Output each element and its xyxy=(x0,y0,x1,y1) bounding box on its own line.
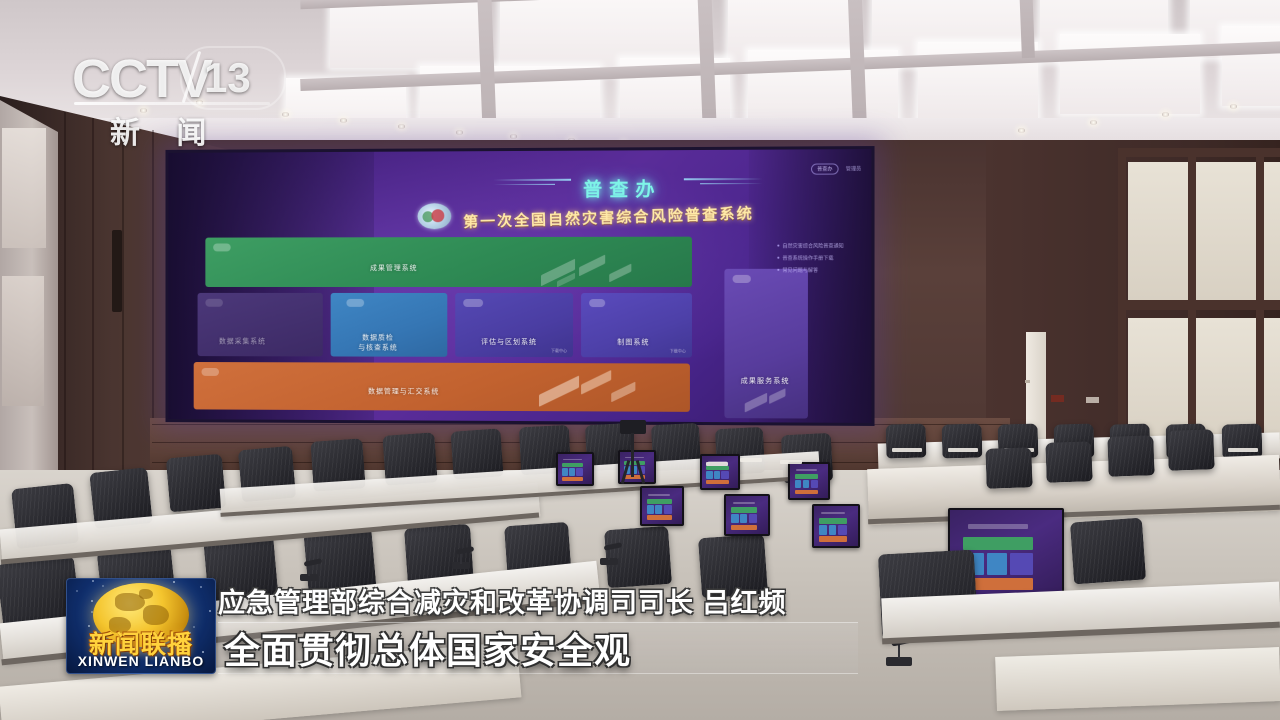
conference-chair[interactable] xyxy=(166,454,226,513)
wall-switch-plate xyxy=(1086,397,1099,403)
title-deco-left xyxy=(493,179,571,189)
downlight xyxy=(398,124,405,129)
tile-chip-icon xyxy=(213,243,231,251)
left-wall-panel-upper xyxy=(2,128,46,248)
display-topbar: 普查办 管理员 xyxy=(811,163,861,174)
screen-green-bar xyxy=(647,499,672,504)
tile-chip-icon xyxy=(346,299,364,307)
tile-mapping[interactable]: 制图系统 下载中心 xyxy=(581,293,692,357)
panel-frame xyxy=(1118,300,1280,310)
screen-blue-tile xyxy=(829,525,837,535)
monitor-screen xyxy=(558,454,592,484)
desk-monitor[interactable] xyxy=(724,494,770,536)
screen-orange-bar xyxy=(795,490,819,494)
screen-title-bar xyxy=(648,494,670,496)
headline-bar: 全面贯彻总体国家安全观 xyxy=(218,622,858,674)
desk-monitor[interactable] xyxy=(700,454,740,490)
gallery-chair[interactable] xyxy=(942,423,983,458)
video-wall-display: 普查办 管理员 普查办 第一次全国自然灾害综合风险普查系统 成果管理系统 xyxy=(168,149,871,423)
screen-blue-tile xyxy=(647,505,654,514)
screen-blue-tile xyxy=(819,525,827,535)
cctv-logo-underline xyxy=(74,102,270,105)
screen-green-bar xyxy=(731,507,757,512)
gallery-chair[interactable] xyxy=(1045,441,1092,483)
screen-title-bar xyxy=(563,459,581,461)
downlight xyxy=(1230,104,1237,109)
wood-panel-seam xyxy=(92,118,94,490)
tile-quality-check[interactable]: 数据质检 与核查系统 xyxy=(331,293,448,357)
tile-tag: 下载中心 xyxy=(670,348,686,354)
star xyxy=(173,581,175,583)
screen-blue-tile xyxy=(714,471,720,479)
screen-orange-bar xyxy=(706,480,728,484)
screen-title-bar xyxy=(796,469,817,471)
tile-results-management[interactable]: 成果管理系统 xyxy=(205,237,692,287)
tile-tag: 下载中心 xyxy=(551,348,567,354)
cctv-channel-subtitle: 新 闻 xyxy=(110,108,220,152)
speaker-title-text: 应急管理部综合减灾和改革协调司司长 吕红频 xyxy=(218,581,787,620)
desk-monitor[interactable] xyxy=(788,462,830,500)
screen-title-bar xyxy=(821,512,845,514)
tile-label: 数据采集系统 xyxy=(219,336,266,346)
wall-speaker xyxy=(112,230,122,312)
side-note[interactable]: 自然灾害综合风险普查通知 xyxy=(777,242,857,249)
census-office-emblem-icon xyxy=(418,203,452,229)
gallery-chair[interactable] xyxy=(985,447,1032,489)
screen-orange-bar xyxy=(647,515,672,520)
tile-label: 评估与区划系统 xyxy=(481,337,537,347)
ceiling-light-panel xyxy=(330,0,480,68)
tile-illustration xyxy=(531,257,652,285)
screen-blue-tile xyxy=(803,480,810,488)
led-video-wall[interactable]: 普查办 管理员 普查办 第一次全国自然灾害综合风险普查系统 成果管理系统 xyxy=(166,146,875,426)
tile-label: 成果管理系统 xyxy=(370,263,417,273)
desk-nameplate xyxy=(780,460,802,464)
downlight xyxy=(1018,128,1025,133)
downlight xyxy=(1162,112,1169,117)
screen-indigo-tile xyxy=(838,525,847,535)
monitor-screen xyxy=(726,496,768,534)
gallery-chair[interactable] xyxy=(1222,423,1263,458)
desk-nameplate xyxy=(706,462,728,466)
gallery-chair[interactable] xyxy=(886,423,927,458)
acoustic-panel xyxy=(1128,162,1188,310)
conference-chair[interactable] xyxy=(1070,518,1146,585)
tile-results-service[interactable]: 成果服务系统 xyxy=(724,269,808,419)
downlight xyxy=(510,134,517,139)
screen-title-bar xyxy=(733,502,756,504)
tile-illustration xyxy=(519,371,650,408)
monitor-screen xyxy=(642,488,682,524)
screen-blue-tile xyxy=(987,553,1007,575)
screen-title-bar xyxy=(625,457,643,459)
topbar-user-label[interactable]: 管理员 xyxy=(846,165,861,172)
screen-green-bar xyxy=(819,518,846,524)
side-note[interactable]: 常见问题与解答 xyxy=(777,267,857,274)
monitor-screen xyxy=(790,464,828,498)
display-side-notes: 自然灾害综合风险普查通知 普查系统操作手册下载 常见问题与解答 xyxy=(777,242,857,279)
speaker-title-line: 应急管理部综合减灾和改革协调司司长 吕红频 xyxy=(218,580,858,620)
ceiling-beam xyxy=(1018,0,1035,58)
screen-indigo-tile xyxy=(1010,553,1032,575)
tile-label: 制图系统 xyxy=(617,337,649,347)
screen-blue-tile xyxy=(740,514,748,523)
tile-label: 数据管理与汇交系统 xyxy=(368,386,439,396)
screen-orange-bar xyxy=(731,525,757,530)
screen-blue-tile xyxy=(731,514,739,523)
tile-data-collection[interactable]: 数据采集系统 xyxy=(198,293,323,357)
desk-nameplate xyxy=(948,448,978,452)
tile-chip-icon xyxy=(463,299,483,307)
downlight xyxy=(456,130,463,135)
tile-assessment-zoning[interactable]: 评估与区划系统 下载中心 xyxy=(455,293,573,357)
desk-monitor[interactable] xyxy=(556,452,594,486)
lower-third-banner: 新闻联播 XINWEN LIANBO 应急管理部综合减灾和改革协调司司长 吕红频… xyxy=(66,578,858,678)
downlight xyxy=(340,118,347,123)
downlight xyxy=(282,112,289,117)
tile-chip-icon xyxy=(201,368,219,376)
screen-blue-tile xyxy=(655,505,662,514)
ceiling-light-panel xyxy=(1222,26,1280,106)
star xyxy=(92,580,94,582)
tile-data-exchange[interactable]: 数据管理与汇交系统 xyxy=(194,362,690,412)
tile-label: 数据质检 与核查系统 xyxy=(358,333,398,353)
program-name-en: XINWEN LIANBO xyxy=(67,653,215,669)
screen-blue-tile xyxy=(706,471,712,479)
tile-chip-icon xyxy=(205,299,223,307)
downlight xyxy=(1090,120,1097,125)
panel-frame xyxy=(1118,148,1280,157)
star xyxy=(200,586,202,588)
gallery-chair[interactable] xyxy=(1167,429,1214,471)
xinwen-lianbo-logo: 新闻联播 XINWEN LIANBO xyxy=(66,578,216,674)
screen-indigo-tile xyxy=(721,471,728,479)
tile-chip-icon xyxy=(733,275,751,283)
screen-indigo-tile xyxy=(664,505,672,514)
tile-illustration xyxy=(739,390,800,417)
screen-green-bar xyxy=(795,474,819,479)
desk-monitor[interactable] xyxy=(812,504,860,548)
tile-chip-icon xyxy=(589,299,605,307)
acoustic-panel xyxy=(1196,162,1258,310)
desk-nameplate xyxy=(740,458,762,462)
screen-blue-tile xyxy=(562,468,568,475)
screen-blue-tile xyxy=(569,468,575,475)
wood-panel-seam xyxy=(64,112,66,492)
screen-orange-bar xyxy=(819,536,846,541)
title-deco-right xyxy=(684,178,763,188)
acoustic-panel xyxy=(1262,162,1280,310)
star xyxy=(209,610,211,612)
screen-green-bar xyxy=(706,466,728,470)
gallery-chair[interactable] xyxy=(1107,435,1154,477)
cctv13-channel-logo: CCTV 13 新 闻 xyxy=(72,48,272,142)
screen-indigo-tile xyxy=(811,480,819,488)
monitor-screen xyxy=(702,456,738,488)
wood-panel-seam xyxy=(122,124,124,488)
desk-nameplate xyxy=(892,448,922,452)
screen-orange-bar xyxy=(562,477,583,481)
right-desk-front xyxy=(995,647,1280,711)
display-title: 普查办 xyxy=(583,174,662,201)
screen-blue-tile xyxy=(795,480,802,488)
screen-title-bar xyxy=(968,524,1028,529)
cctv-channel-number: 13 xyxy=(204,54,251,102)
monitor-screen xyxy=(814,506,858,546)
desk-monitor[interactable] xyxy=(640,486,684,526)
tile-label: 成果服务系统 xyxy=(741,376,790,386)
star xyxy=(91,600,93,602)
screen-indigo-tile xyxy=(576,468,583,475)
side-note[interactable]: 普查系统操作手册下载 xyxy=(777,255,857,262)
star xyxy=(102,585,104,587)
headline-text: 全面贯彻总体国家安全观 xyxy=(218,622,631,674)
broadcast-screenshot: 普查办 管理员 普查办 第一次全国自然灾害综合风险普查系统 成果管理系统 xyxy=(0,0,1280,720)
screen-green-bar xyxy=(963,537,1032,550)
door-handle-icon xyxy=(1025,380,1030,383)
screen-indigo-tile xyxy=(749,514,757,523)
left-wall-panel-lower xyxy=(2,276,44,406)
topbar-pill[interactable]: 普查办 xyxy=(811,163,839,174)
star xyxy=(76,590,78,592)
desk-nameplate xyxy=(1228,448,1258,452)
exit-sign xyxy=(1051,395,1064,402)
screen-green-bar xyxy=(562,463,583,467)
